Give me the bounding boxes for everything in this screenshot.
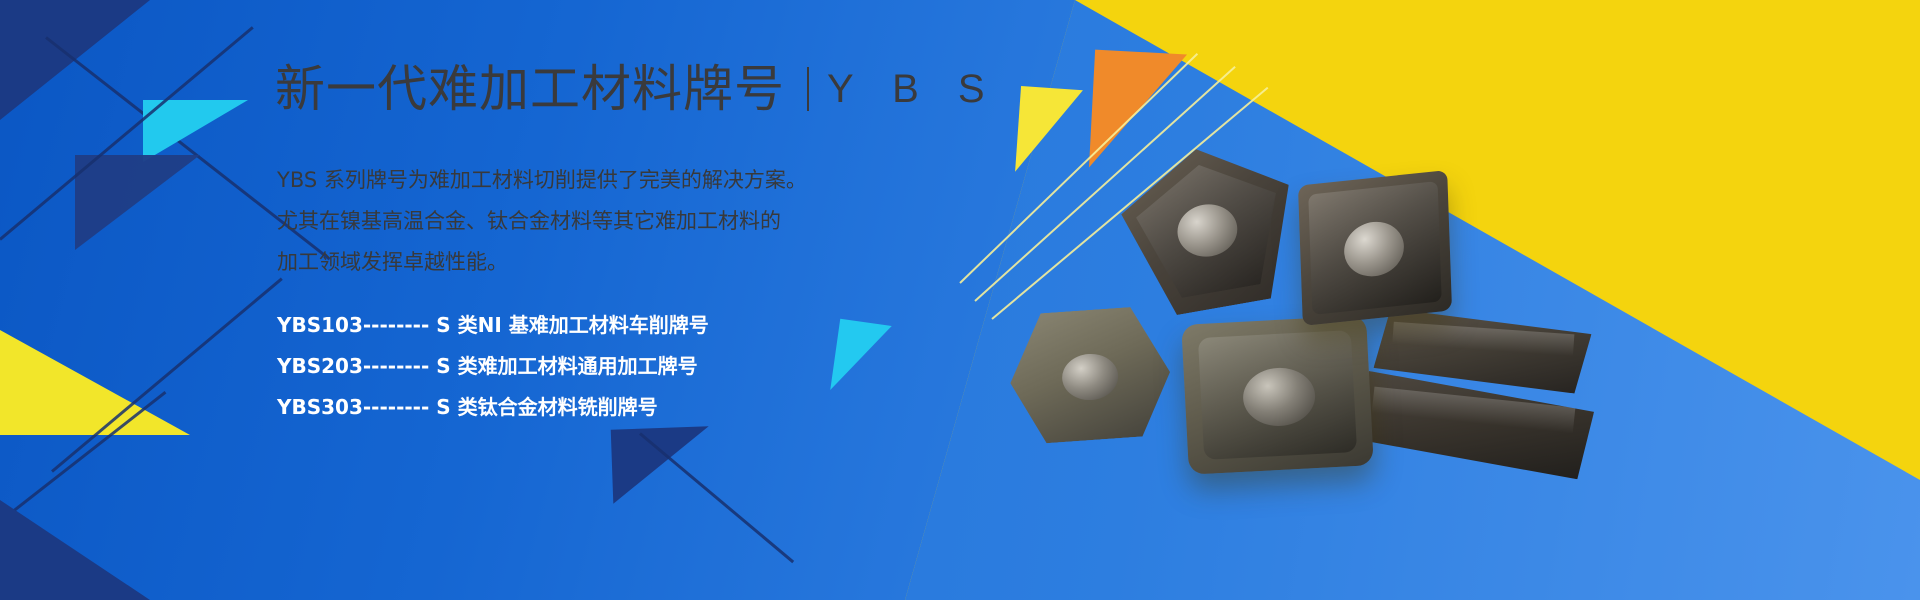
grade-item-ybs203: YBS203-------- S 类难加工材料通用加工牌号	[277, 346, 709, 387]
insert-wedge-wnmg	[1112, 134, 1307, 321]
insert-ridge	[1372, 387, 1575, 434]
grade-item-ybs303: YBS303-------- S 类钛合金材料铣削牌号	[277, 387, 709, 428]
insert-square-snmg	[1298, 170, 1452, 326]
description-line: 尤其在镍基高温合金、钛合金材料等其它难加工材料的	[277, 201, 807, 242]
insert-ridge	[1393, 322, 1575, 356]
banner-description: YBS 系列牌号为难加工材料切削提供了完美的解决方案。 尤其在镍基高温合金、钛合…	[277, 160, 807, 283]
navy-triangle-bottomleft-icon	[0, 500, 150, 600]
banner-headline: 新一代难加工材料牌号 Y B S	[275, 64, 999, 114]
cyan-triangle-upper-icon	[143, 100, 248, 162]
yellow-triangle-left-icon	[0, 330, 190, 435]
headline-chinese: 新一代难加工材料牌号	[275, 64, 785, 114]
navy-triangle-left-icon	[75, 155, 200, 250]
product-insert-group	[980, 120, 1600, 520]
product-banner: 新一代难加工材料牌号 Y B S YBS 系列牌号为难加工材料切削提供了完美的解…	[0, 0, 1920, 600]
insert-square-center	[1181, 315, 1374, 474]
headline-separator-icon	[807, 67, 809, 111]
headline-series-code: Y B S	[827, 67, 999, 112]
banner-text-content: 新一代难加工材料牌号 Y B S YBS 系列牌号为难加工材料切削提供了完美的解…	[275, 0, 1035, 600]
insert-hole	[1061, 352, 1120, 402]
description-line: 加工领域发挥卓越性能。	[277, 242, 807, 283]
description-line: YBS 系列牌号为难加工材料切削提供了完美的解决方案。	[277, 160, 807, 201]
grade-list: YBS103-------- S 类NI 基难加工材料车削牌号 YBS203--…	[277, 305, 709, 428]
grade-item-ybs103: YBS103-------- S 类NI 基难加工材料车削牌号	[277, 305, 709, 346]
